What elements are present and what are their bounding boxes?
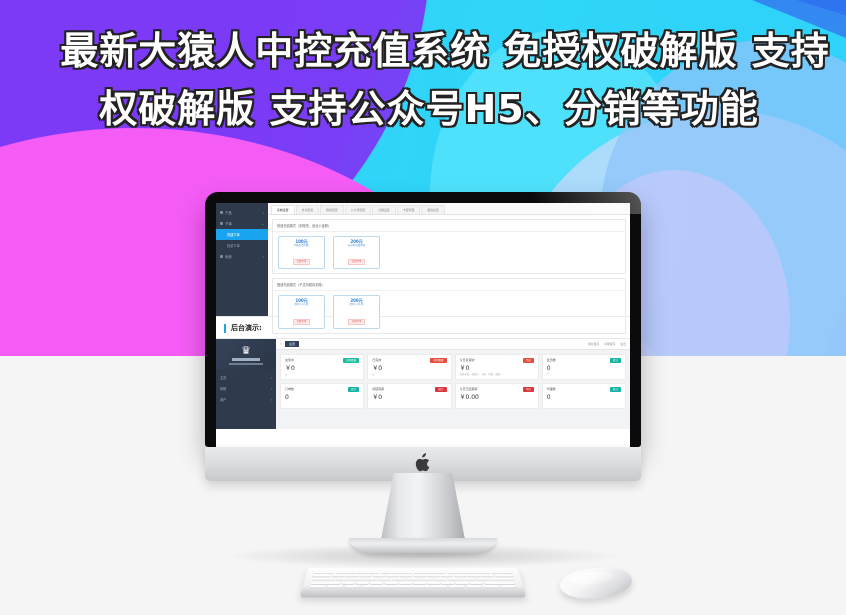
keyboard-key[interactable] xyxy=(400,574,412,576)
tab-other-settings[interactable]: 其他设置 xyxy=(421,205,445,214)
keyboard-key[interactable] xyxy=(332,574,345,576)
headline-line-1: 最新大猿人中控充值系统 免授权破解版 支持 xyxy=(60,22,829,80)
keyboard-key[interactable] xyxy=(469,571,479,573)
stat-card-sub: 元 xyxy=(372,373,446,376)
keyboard-key[interactable] xyxy=(370,581,383,583)
monitor-bezel: 产品 › 下单 ⌄ 快捷下单 批量下单 xyxy=(205,192,641,447)
keyboard-key[interactable] xyxy=(500,585,516,587)
keyboard-key[interactable] xyxy=(350,578,363,580)
keyboard-key[interactable] xyxy=(414,571,424,573)
stat-card: 今日总营收 今日 ￥0 含快充值、充值中、卡密、代理、通道 xyxy=(455,354,539,380)
stat-card-value: ￥0 xyxy=(372,365,446,372)
stat-card: 会员数 统计 0 个 xyxy=(542,354,626,380)
keyboard-key[interactable] xyxy=(495,574,514,576)
keyboard-key[interactable] xyxy=(311,581,341,583)
keyboard-key[interactable] xyxy=(441,581,454,583)
frontend-sidebar: 产品 › 下单 ⌄ 快捷下单 批量下单 xyxy=(216,203,268,316)
status-badge: 实时数据 xyxy=(430,358,446,363)
keyboard-key[interactable] xyxy=(359,574,371,576)
keyboard-key[interactable] xyxy=(358,571,368,573)
sidebar-item-system-label: 系统 xyxy=(220,254,232,259)
keyboard-key[interactable] xyxy=(454,574,466,576)
dashboard-toolbar: « 主页 刷新缓存 清理缓存 退出 xyxy=(276,339,630,350)
status-badge: 统计 xyxy=(348,387,359,392)
stat-card-value: ￥0 xyxy=(372,394,446,401)
keyboard-key[interactable] xyxy=(483,585,499,587)
keyboard-key[interactable] xyxy=(336,578,349,580)
dashboard-user-role xyxy=(229,363,263,365)
price-card-desc: 自动秒到账到账 xyxy=(335,244,378,247)
keyboard-key[interactable] xyxy=(378,578,391,580)
keyboard-key[interactable] xyxy=(476,578,489,580)
frontend-app: 产品 › 下单 ⌄ 快捷下单 批量下单 xyxy=(216,203,630,317)
keyboard-key[interactable] xyxy=(462,578,475,580)
price-card[interactable]: 100元 用时1-3小时 立即下单 xyxy=(278,295,325,328)
keyboard-key[interactable] xyxy=(470,581,483,583)
stat-card: 待结算额 统计 ￥0 xyxy=(367,383,451,409)
chevron-down-icon: ⌄ xyxy=(261,222,264,226)
panel-list: 快速充值模式（到账快、适合小金额） 100元 到账快秒到账 立即下单 200元 xyxy=(268,215,630,355)
stat-card-label: 订单数 xyxy=(285,387,294,391)
stat-card-label: 充值中 xyxy=(285,358,294,362)
logout-button[interactable]: 退出 xyxy=(620,342,626,346)
keyboard-row xyxy=(312,578,515,580)
keyboard-key[interactable] xyxy=(441,574,453,576)
dashboard-nav: 主页 › 系统 › 用户 › xyxy=(216,369,276,405)
price-card-desc: 到账快秒到账 xyxy=(280,244,323,247)
price-card-tag[interactable]: 立即下单 xyxy=(348,259,364,265)
panel-slow-recharge-title: 慢速充值模式（不支持模拟到账） xyxy=(273,279,625,291)
monitor-stand-foot xyxy=(349,538,497,553)
headline-line-2: 权破解版 支持公众号H5、分销等功能 xyxy=(99,80,758,138)
keyboard-key[interactable] xyxy=(447,571,457,573)
price-card-tag[interactable]: 立即下单 xyxy=(293,259,309,265)
sidebar-item-quick-order[interactable]: 快捷下单 xyxy=(216,229,268,240)
dashboard-nav-item-system[interactable]: 系统 › xyxy=(216,383,276,394)
stat-card-sub: 元 xyxy=(285,373,359,376)
keyboard-key[interactable] xyxy=(466,585,482,587)
chevron-right-icon: › xyxy=(271,387,272,391)
keyboard-key[interactable] xyxy=(484,581,515,583)
keyboard-key[interactable] xyxy=(313,574,332,576)
stat-card-header: 会员数 统计 xyxy=(547,358,621,363)
stat-card: 代理数 统计 0 xyxy=(542,383,626,409)
breadcrumb[interactable]: 主页 xyxy=(285,341,299,347)
keyboard-key[interactable] xyxy=(325,571,335,573)
gear-icon xyxy=(220,255,223,258)
dashboard-nav-item-system-label: 系统 xyxy=(220,386,226,391)
box-icon xyxy=(220,211,223,214)
chevron-right-icon: › xyxy=(263,255,264,259)
stat-card: 充值中 实时数据 ￥0 元 xyxy=(280,354,364,380)
apple-logo-icon xyxy=(415,453,431,472)
panel-fast-recharge: 快速充值模式（到账快、适合小金额） 100元 到账快秒到账 立即下单 200元 xyxy=(272,219,626,274)
refresh-cache-button[interactable]: 刷新缓存 xyxy=(588,342,599,346)
keyboard-key[interactable] xyxy=(336,571,346,573)
list-icon xyxy=(220,222,223,225)
keyboard-key[interactable] xyxy=(369,571,379,573)
dashboard-main: « 主页 刷新缓存 清理缓存 退出 充值中 xyxy=(276,339,630,429)
keyboard-key[interactable] xyxy=(403,571,413,573)
backend-dashboard: ♛ 主页 › 系统 › xyxy=(216,338,630,429)
chevron-right-icon: › xyxy=(271,376,272,380)
panel-fast-recharge-body: 100元 到账快秒到账 立即下单 200元 自动秒到账到账 立即下单 xyxy=(273,232,625,273)
keyboard-key[interactable] xyxy=(502,571,512,573)
keyboard-key[interactable] xyxy=(458,571,468,573)
price-card[interactable]: 100元 到账快秒到账 立即下单 xyxy=(278,236,325,269)
keyboard-key[interactable] xyxy=(380,571,390,573)
sidebar-item-batch-order-label: 批量下单 xyxy=(227,243,240,248)
keyboard-key[interactable] xyxy=(420,578,433,580)
keyboard-key[interactable] xyxy=(427,581,440,583)
price-card-tag[interactable]: 立即下单 xyxy=(293,319,309,325)
keyboard-key[interactable] xyxy=(385,581,398,583)
sidebar-item-system[interactable]: 系统 › xyxy=(216,251,268,262)
keyboard-row xyxy=(314,571,513,573)
chevron-right-icon: › xyxy=(263,211,264,215)
collapse-icon[interactable]: « xyxy=(280,342,282,346)
keyboard-keys xyxy=(310,571,516,588)
keyboard-row xyxy=(311,581,516,583)
stat-card-label: 会员数 xyxy=(547,358,556,362)
tab-bar: 系统设置 支付配置 短信配置 公众号配置 分销设置 卡密管理 其他设置 xyxy=(268,203,630,215)
keyboard-row xyxy=(313,574,514,576)
status-badge: 实时数据 xyxy=(343,358,359,363)
tab-sms-config[interactable]: 短信配置 xyxy=(320,205,344,214)
keyboard-key[interactable] xyxy=(310,585,326,587)
stat-card-label: 已完成 xyxy=(372,358,381,362)
keyboard-key[interactable] xyxy=(314,571,324,573)
dashboard-sidebar: ♛ 主页 › 系统 › xyxy=(216,339,276,429)
keyboard-key[interactable] xyxy=(434,578,447,580)
keyboard-key[interactable] xyxy=(425,571,435,573)
keyboard-key[interactable] xyxy=(491,571,501,573)
apple-magic-mouse[interactable] xyxy=(560,564,632,602)
keyboard-key[interactable] xyxy=(391,571,401,573)
keyboard-key[interactable] xyxy=(387,574,399,576)
stat-card-value: 0 xyxy=(547,365,621,372)
price-card[interactable]: 200元 用时1-3小时 立即下单 xyxy=(333,295,380,328)
stat-card-header: 订单数 统计 xyxy=(285,387,359,392)
tab-distribution-settings[interactable]: 分销设置 xyxy=(372,205,396,214)
dashboard-user-block: ♛ xyxy=(216,339,276,369)
keyboard-key[interactable] xyxy=(414,574,426,576)
price-card-tag[interactable]: 立即下单 xyxy=(348,319,364,325)
stat-card-header: 代理数 统计 xyxy=(547,387,621,392)
sidebar-item-order-label: 下单 xyxy=(220,221,232,226)
keyboard-key[interactable] xyxy=(364,578,377,580)
apple-magic-keyboard[interactable] xyxy=(304,564,522,600)
sidebar-item-batch-order[interactable]: 批量下单 xyxy=(216,240,268,251)
keyboard-key[interactable] xyxy=(448,585,464,587)
dashboard-toolbar-actions: 刷新缓存 清理缓存 退出 xyxy=(588,342,626,346)
price-card[interactable]: 200元 自动秒到账到账 立即下单 xyxy=(333,236,380,269)
tab-system-settings[interactable]: 系统设置 xyxy=(271,205,295,214)
stat-card-value: ￥0.00 xyxy=(460,394,534,401)
keyboard-key[interactable] xyxy=(480,571,490,573)
keyboard-key[interactable] xyxy=(413,581,426,583)
chevron-right-icon: › xyxy=(271,398,272,402)
stat-card-value: ￥0 xyxy=(285,365,359,372)
status-badge: 统计 xyxy=(610,387,621,392)
frontend-main: 系统设置 支付配置 短信配置 公众号配置 分销设置 卡密管理 其他设置 快速充值… xyxy=(268,203,630,316)
keyboard-key[interactable] xyxy=(373,574,385,576)
keyboard-key[interactable] xyxy=(481,574,494,576)
stat-card-label: 代理数 xyxy=(547,387,556,391)
keyboard-key[interactable] xyxy=(344,585,360,587)
sidebar-item-quick-order-label: 快捷下单 xyxy=(227,232,240,237)
stat-card-grid: 充值中 实时数据 ￥0 元 已完成 实时数据 xyxy=(276,350,630,413)
price-card-desc: 用时1-3小时 xyxy=(280,303,323,306)
keyboard-key[interactable] xyxy=(399,581,412,583)
monitor-screen: 产品 › 下单 ⌄ 快捷下单 批量下单 xyxy=(216,203,630,447)
keyboard-key[interactable] xyxy=(490,578,515,580)
stat-card-header: 待结算额 统计 xyxy=(372,387,446,392)
status-badge: 统计 xyxy=(435,387,446,392)
keyboard-key[interactable] xyxy=(392,578,405,580)
keyboard-key[interactable] xyxy=(347,571,357,573)
status-badge: 今日 xyxy=(523,387,534,392)
keyboard-key[interactable] xyxy=(327,585,343,587)
dashboard-nav-item-user-label: 用户 xyxy=(220,397,226,402)
panel-slow-recharge-body: 100元 用时1-3小时 立即下单 200元 用时1-3小时 立即下单 xyxy=(273,291,625,332)
keyboard-key[interactable] xyxy=(346,574,359,576)
keyboard-row xyxy=(310,585,516,587)
keyboard-key[interactable] xyxy=(456,581,469,583)
crown-icon: ♛ xyxy=(216,345,276,356)
status-badge: 统计 xyxy=(610,358,621,363)
stat-card-header: 已完成 实时数据 xyxy=(372,358,446,363)
keyboard-key[interactable] xyxy=(342,581,355,583)
panel-fast-recharge-title: 快速充值模式（到账快、适合小金额） xyxy=(273,220,625,232)
stat-card-label: 待结算额 xyxy=(372,387,384,391)
monitor-stand-neck xyxy=(380,473,466,545)
stat-card-label: 今日总营收 xyxy=(460,358,475,362)
stat-card-header: 今日已结算额 今日 xyxy=(460,387,534,392)
imac-mockup: 产品 › 下单 ⌄ 快捷下单 批量下单 xyxy=(205,192,641,481)
stat-card: 已完成 实时数据 ￥0 元 xyxy=(367,354,451,380)
sidebar-item-order[interactable]: 下单 ⌄ xyxy=(216,218,268,229)
keyboard-key[interactable] xyxy=(448,578,461,580)
sidebar-item-product[interactable]: 产品 › xyxy=(216,207,268,218)
sidebar-item-product-label: 产品 xyxy=(220,210,232,215)
dashboard-nav-item-user[interactable]: 用户 › xyxy=(216,394,276,405)
stat-card-header: 今日总营收 今日 xyxy=(460,358,534,363)
stat-card-header: 充值中 实时数据 xyxy=(285,358,359,363)
stat-card-sub: 含快充值、充值中、卡密、代理、通道 xyxy=(460,373,534,376)
panel-slow-recharge: 慢速充值模式（不支持模拟到账） 100元 用时1-3小时 立即下单 200元 xyxy=(272,278,626,333)
dashboard-nav-item-home-label: 主页 xyxy=(220,375,226,380)
dashboard-nav-item-home[interactable]: 主页 › xyxy=(216,372,276,383)
headline: 最新大猿人中控充值系统 免授权破解版 支持 权破解版 支持公众号H5、分销等功能 xyxy=(0,0,846,170)
tab-card-management[interactable]: 卡密管理 xyxy=(397,205,421,214)
stat-card-value: 0 xyxy=(285,394,359,401)
dashboard-user-name xyxy=(232,358,260,361)
tab-official-account-config[interactable]: 公众号配置 xyxy=(345,205,371,214)
stat-card-value: ￥0 xyxy=(460,365,534,372)
keyboard-key[interactable] xyxy=(468,574,481,576)
keyboard-key[interactable] xyxy=(427,574,439,576)
stat-card-sub: 个 xyxy=(547,373,621,376)
price-card-desc: 用时1-3小时 xyxy=(335,303,378,306)
clear-cache-button[interactable]: 清理缓存 xyxy=(604,342,615,346)
keyboard-key[interactable] xyxy=(312,578,335,580)
keyboard-key[interactable] xyxy=(436,571,446,573)
keyboard-key[interactable] xyxy=(362,585,448,587)
status-badge: 今日 xyxy=(523,358,534,363)
tab-payment-config[interactable]: 支付配置 xyxy=(296,205,320,214)
stat-card: 今日已结算额 今日 ￥0.00 xyxy=(455,383,539,409)
keyboard-key[interactable] xyxy=(356,581,369,583)
promo-banner-image: 最新大猿人中控充值系统 免授权破解版 支持 权破解版 支持公众号H5、分销等功能… xyxy=(0,0,846,615)
stat-card: 订单数 统计 0 xyxy=(280,383,364,409)
keyboard-key[interactable] xyxy=(406,578,419,580)
stat-card-value: 0 xyxy=(547,394,621,401)
stat-card-label: 今日已结算额 xyxy=(460,387,478,391)
